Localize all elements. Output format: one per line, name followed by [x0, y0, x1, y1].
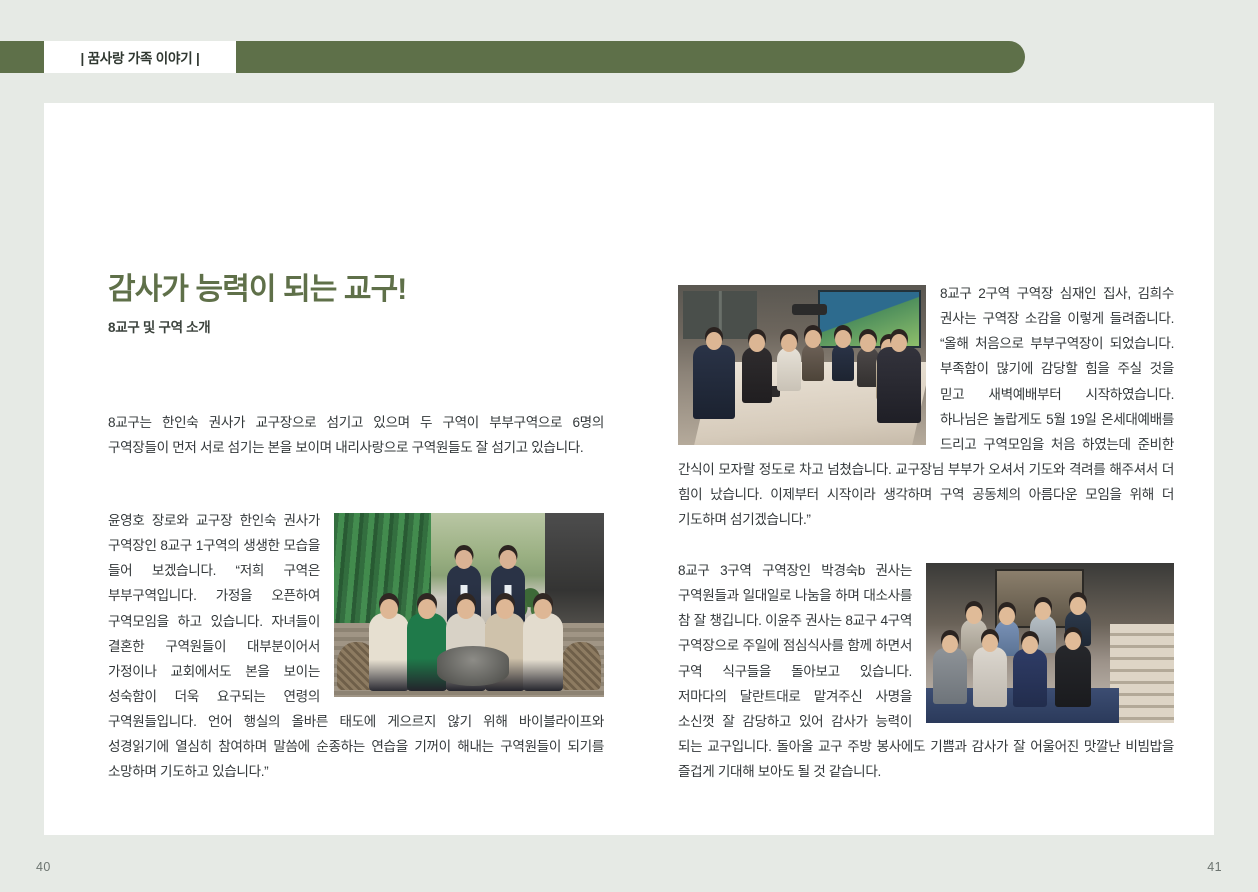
- page-title: 감사가 능력이 되는 교구!: [108, 273, 608, 307]
- person-front-1: [933, 648, 967, 704]
- person-6: [857, 347, 879, 387]
- page-number-right: 41: [1207, 860, 1222, 874]
- person-2: [742, 347, 772, 403]
- person-3: [777, 347, 801, 391]
- page-subtitle: 8교구 및 구역 소개: [108, 316, 608, 336]
- window-wall: [683, 291, 757, 339]
- page-number-left: 40: [36, 860, 51, 874]
- right-column-flow-2: 8교구 3구역 구역장인 박경숙b 권사는 구역원들과 일대일로 나눔을 하며 …: [678, 558, 1174, 784]
- person-front-4: [1055, 645, 1091, 707]
- outdoor-group-portrait-photo: [334, 513, 604, 697]
- person-front-2: [973, 647, 1007, 707]
- header-section-label: | 꿈사랑 가족 이야기 |: [44, 41, 236, 73]
- left-column-flow: 윤영호 장로와 교구장 한인숙 권사가 구역장인 8교구 1구역의 생생한 모습…: [108, 508, 604, 785]
- person-4: [802, 343, 824, 381]
- seated-woman-1: [369, 613, 409, 691]
- person-8: [877, 347, 921, 423]
- rattan-chair-right: [561, 642, 602, 690]
- person-1: [693, 345, 735, 419]
- person-5: [832, 343, 854, 381]
- headline-block: 감사가 능력이 되는 교구! 8교구 및 구역 소개: [108, 273, 608, 336]
- seated-woman-5: [523, 613, 563, 691]
- round-table: [437, 646, 510, 686]
- person-front-3: [1013, 649, 1047, 707]
- pendant-lamp: [792, 304, 827, 315]
- group-on-steps-finger-heart-photo: [926, 563, 1174, 723]
- right-column-flow: 8교구 2구역 구역장 심재인 집사, 김희수 권사는 구역장 소감을 이렇게 …: [678, 281, 1174, 532]
- cafe-long-table-fellowship-photo: [678, 285, 926, 445]
- left-column-paragraph-1: 8교구는 한인숙 권사가 교구장으로 섬기고 있으며 두 구역이 부부구역으로 …: [108, 410, 604, 460]
- header-section-label-text: | 꿈사랑 가족 이야기 |: [80, 47, 199, 67]
- article-content: 감사가 능력이 되는 교구! 8교구 및 구역 소개 8교구는 한인숙 권사가 …: [44, 103, 1214, 835]
